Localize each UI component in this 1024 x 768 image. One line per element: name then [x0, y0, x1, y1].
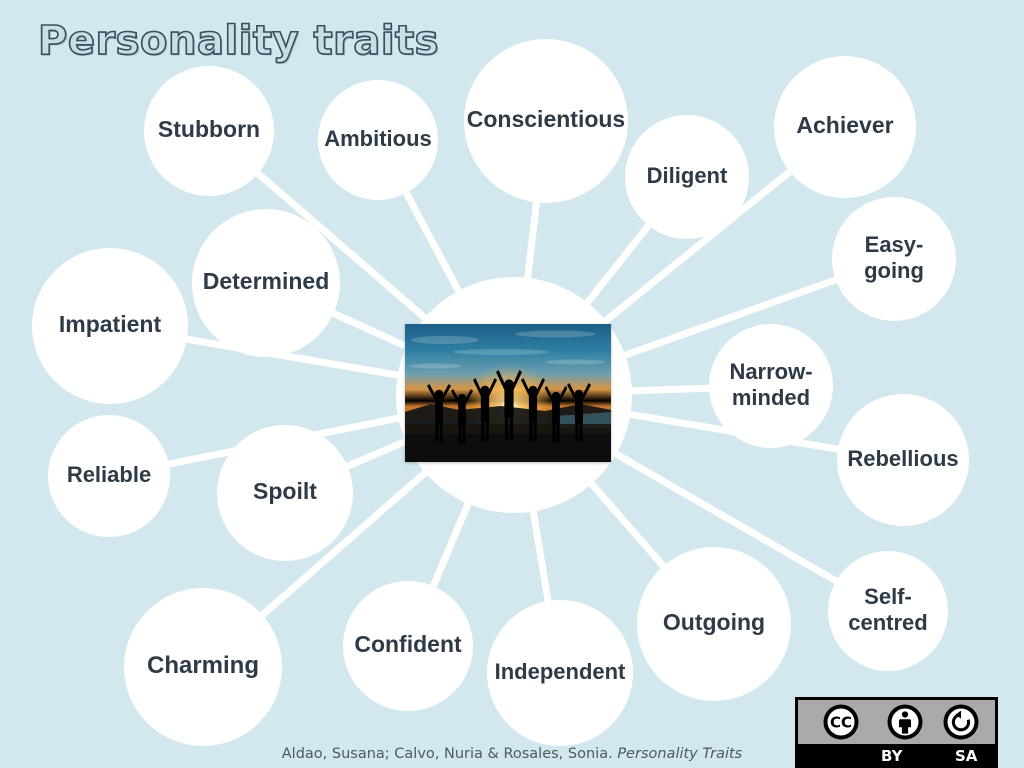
trait-label-spoilt: Spoilt	[253, 478, 317, 504]
trait-bubble-spoilt[interactable]: Spoilt	[217, 425, 353, 561]
trait-bubble-rebellious[interactable]: Rebellious	[837, 394, 969, 526]
trait-bubble-ambitious[interactable]: Ambitious	[318, 80, 438, 200]
trait-label-confident: Confident	[354, 631, 462, 657]
trait-label-narrow-minded: Narrow-minded	[729, 359, 812, 410]
slide-canvas: Personality traits StubbornAmbitiousCons…	[0, 0, 1024, 768]
cc-by-sa-badge[interactable]: CC BY SA	[795, 697, 998, 768]
cc-badge-icons: CC	[798, 700, 995, 744]
attribution-authors: Aldao, Susana; Calvo, Nuria & Rosales, S…	[282, 746, 613, 762]
trait-bubble-achiever[interactable]: Achiever	[774, 56, 916, 198]
svg-text:CC: CC	[830, 714, 852, 732]
trait-label-achiever: Achiever	[796, 112, 893, 138]
trait-bubble-reliable[interactable]: Reliable	[48, 415, 170, 537]
trait-bubble-narrow-minded[interactable]: Narrow-minded	[709, 324, 833, 448]
trait-label-independent: Independent	[495, 659, 626, 684]
trait-label-charming: Charming	[147, 652, 259, 679]
center-photo	[405, 324, 611, 462]
cc-badge-labels: BY SA	[795, 744, 998, 768]
attribution-person-icon	[886, 703, 924, 741]
trait-label-rebellious: Rebellious	[847, 446, 958, 471]
trait-bubble-independent[interactable]: Independent	[487, 600, 633, 746]
trait-bubble-outgoing[interactable]: Outgoing	[637, 547, 791, 701]
trait-bubble-diligent[interactable]: Diligent	[625, 115, 749, 239]
cc-by-label: BY	[881, 747, 955, 765]
trait-bubble-conscientious[interactable]: Conscientious	[464, 39, 628, 203]
trait-label-reliable: Reliable	[67, 462, 151, 487]
trait-label-easy-going: Easy-going	[864, 232, 924, 283]
attribution-work-title: Personality Traits	[617, 746, 742, 762]
trait-bubble-confident[interactable]: Confident	[343, 581, 473, 711]
creative-commons-icon: CC	[813, 703, 869, 741]
trait-label-determined: Determined	[203, 268, 330, 294]
trait-label-stubborn: Stubborn	[158, 116, 260, 142]
trait-bubble-stubborn[interactable]: Stubborn	[144, 66, 274, 196]
trait-label-diligent: Diligent	[647, 163, 728, 188]
cc-sa-label: SA	[955, 747, 995, 765]
share-alike-icon	[942, 703, 980, 741]
trait-bubble-easy-going[interactable]: Easy-going	[832, 197, 956, 321]
trait-label-ambitious: Ambitious	[324, 126, 432, 151]
trait-label-outgoing: Outgoing	[663, 609, 765, 635]
trait-bubble-self-centred[interactable]: Self-centred	[828, 551, 948, 671]
trait-label-impatient: Impatient	[59, 311, 162, 337]
page-title: Personality traits	[38, 18, 439, 64]
trait-bubble-impatient[interactable]: Impatient	[32, 248, 188, 404]
trait-bubble-charming[interactable]: Charming	[124, 588, 282, 746]
trait-bubble-determined[interactable]: Determined	[192, 209, 340, 357]
trait-label-conscientious: Conscientious	[467, 106, 625, 132]
